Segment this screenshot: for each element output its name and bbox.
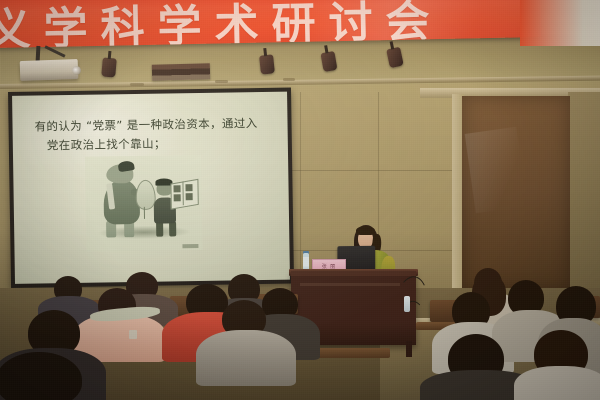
cartoon-book-char-3 xyxy=(185,184,192,191)
ceiling-vent-3 xyxy=(283,78,295,81)
audience-shoulders-front-far-right xyxy=(514,366,600,400)
presenter-desk-highlight xyxy=(300,283,400,286)
stage-light-icon-1 xyxy=(101,57,117,77)
projection-screen: 有的认为 “党票” 是一种政治资本，通过入 党在政治上找个靠山； xyxy=(8,88,294,288)
stage-light-icon-2 xyxy=(259,54,275,74)
cartoon-book-char-4 xyxy=(186,193,193,200)
audience-desk-bottle-icon xyxy=(404,296,410,312)
presenter-hair-front xyxy=(356,226,375,235)
political-satire-cartoon xyxy=(85,155,202,252)
banner-right-window-glow xyxy=(520,0,600,46)
cartoon-balloon-string xyxy=(144,207,145,219)
audience-shoulders-grey xyxy=(196,330,296,386)
cartoon-balloon-icon xyxy=(135,180,155,210)
ceiling-vent-1 xyxy=(130,83,144,86)
wall-seam-horizontal-1 xyxy=(292,170,454,171)
projection-screen-surface: 有的认为 “党票” 是一种政治资本，通过入 党在政治上找个靠山； xyxy=(12,92,290,284)
projector-lens-icon xyxy=(72,66,81,75)
projector-icon xyxy=(20,59,79,81)
cartoon-book-char-1 xyxy=(173,185,180,192)
ceiling-vent-2 xyxy=(215,80,228,83)
slide-text-line-2: 党在政治上找个靠山； xyxy=(47,136,166,154)
audience-desk-cup-icon xyxy=(129,330,137,339)
cartoon-book-char-2 xyxy=(174,194,181,201)
slide-text-line-1: 有的认为 “党票” 是一种政治资本，通过入 xyxy=(34,115,257,135)
cartoon-small-figure-leg-right xyxy=(169,221,176,236)
wall-seam-vertical-1 xyxy=(300,92,301,288)
cartoon-small-figure-leg-left xyxy=(156,222,163,237)
far-wall-right xyxy=(568,92,600,292)
seminar-photo-scene: 义学科学术研讨会 有的认为 “党票” 是一种政治资本，通过入 党在政治上找个靠山… xyxy=(0,0,600,400)
stage-light-icon-3 xyxy=(320,51,337,72)
door-reflection xyxy=(465,127,528,213)
ceiling-light-fixture xyxy=(152,63,210,81)
cartoon-signature xyxy=(182,244,198,248)
